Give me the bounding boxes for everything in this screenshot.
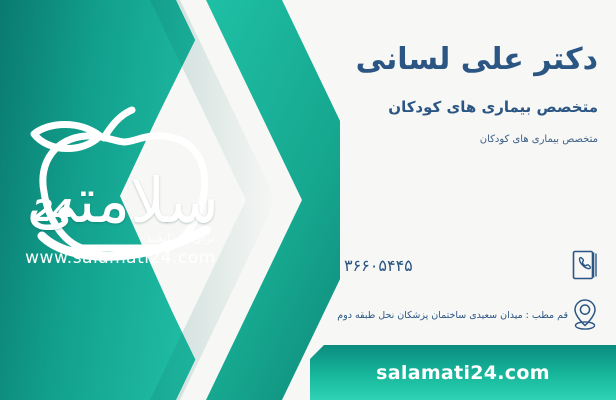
doctor-specialty-secondary: متخصص بیماری های کودکان xyxy=(480,134,598,145)
teal-chevron-artwork xyxy=(0,0,340,400)
doctor-name: دکتر علی لسانی xyxy=(356,42,598,77)
phone-book-icon xyxy=(568,246,602,284)
website-footer-bar[interactable]: salamati24.com xyxy=(310,345,616,400)
doctor-info-panel: دکتر علی لسانی متخصص بیماری های کودکان م… xyxy=(340,0,616,400)
contact-row-address[interactable]: قم مطب : میدان سعیدی ساختمان پزشکان نحل … xyxy=(340,296,602,334)
doctor-business-card: سلامتی 24 برای یک لبخند www.salamati24.c… xyxy=(0,0,616,400)
contact-row-phone[interactable]: ۳۶۶۰۵۴۴۵ xyxy=(340,246,602,284)
doctor-specialty: متخصص بیماری های کودکان xyxy=(388,98,598,116)
footer-website: salamati24.com xyxy=(376,362,550,384)
map-pin-icon xyxy=(568,296,602,334)
clinic-address: قم مطب : میدان سعیدی ساختمان پزشکان نحل … xyxy=(333,310,568,321)
contact-block: ۳۶۶۰۵۴۴۵ قم مطب : میدان سعیدی ساختمان پز… xyxy=(340,246,602,346)
phone-number: ۳۶۶۰۵۴۴۵ xyxy=(340,256,568,275)
